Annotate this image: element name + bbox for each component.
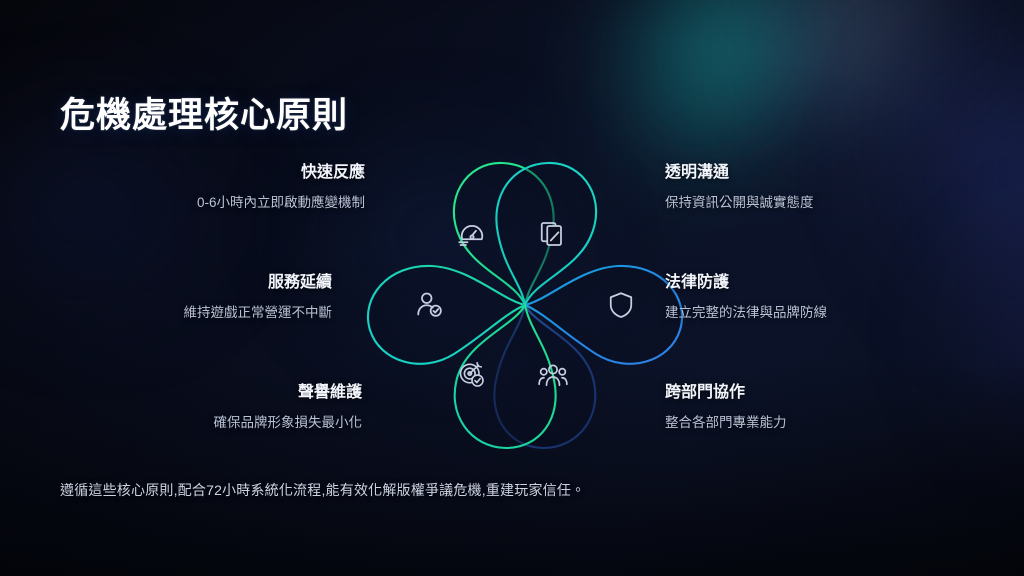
petal-label-cross-department-collaboration: 跨部門協作 整合各部門專業能力 — [665, 383, 965, 432]
gauge-icon — [457, 219, 487, 249]
petal-label-desc: 0-6小時內立即啟動應變機制 — [65, 194, 365, 212]
petal-label-desc: 建立完整的法律與品牌防線 — [665, 304, 965, 322]
petal-label-title: 透明溝通 — [665, 163, 965, 183]
petal-label-title: 服務延續 — [32, 273, 332, 293]
petal-label-desc: 確保品牌形象損失最小化 — [62, 414, 362, 432]
document-edit-icon — [538, 219, 568, 249]
petal-label-title: 法律防護 — [665, 273, 965, 293]
petal-label-desc: 維持遊戲正常營運不中斷 — [32, 304, 332, 322]
people-group-icon — [538, 360, 568, 390]
petal-label-fast-response: 快速反應 0-6小時內立即啟動應變機制 — [65, 163, 365, 212]
petal-label-desc: 整合各部門專業能力 — [665, 414, 965, 432]
target-check-icon — [457, 360, 487, 390]
petal-label-transparent-communication: 透明溝通 保持資訊公開與誠實態度 — [665, 163, 965, 212]
slide-canvas: 危機處理核心原則 — [0, 0, 1024, 576]
petal-label-legal-protection: 法律防護 建立完整的法律與品牌防線 — [665, 273, 965, 322]
petal-label-title: 聲譽維護 — [62, 383, 362, 403]
petal-label-desc: 保持資訊公開與誠實態度 — [665, 194, 965, 212]
user-check-icon — [415, 290, 445, 320]
shield-icon — [606, 290, 636, 320]
petal-label-service-continuity: 服務延續 維持遊戲正常營運不中斷 — [32, 273, 332, 322]
petal-label-title: 跨部門協作 — [665, 383, 965, 403]
petal-diagram — [330, 130, 720, 460]
footer-summary: 遵循這些核心原則,配合72小時系統化流程,能有效化解版權爭議危機,重建玩家信任。 — [60, 480, 585, 500]
petal-label-reputation-maintenance: 聲譽維護 確保品牌形象損失最小化 — [62, 383, 362, 432]
petal-label-title: 快速反應 — [65, 163, 365, 183]
page-title: 危機處理核心原則 — [60, 87, 348, 138]
